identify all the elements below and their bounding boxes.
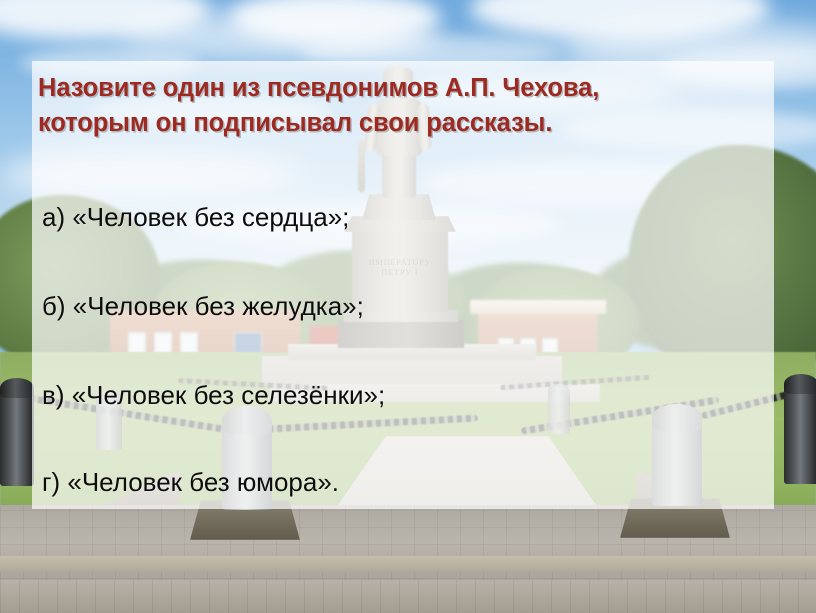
plaza-band	[0, 556, 816, 572]
bollard-far-right	[784, 384, 816, 484]
bollard-cap	[784, 374, 816, 394]
quiz-slide: ИМПЕРАТОРУ ПЕТРУ I	[0, 0, 816, 613]
answer-option-d[interactable]: г) «Человек без юмора».	[42, 466, 339, 498]
bollard-cap	[0, 378, 34, 398]
answer-option-a[interactable]: а) «Человек без сердца»;	[42, 201, 349, 233]
bollard-far-left	[0, 388, 34, 486]
answer-option-c[interactable]: в) «Человек без селезёнки»;	[42, 379, 385, 411]
text-layer: Назовите один из псевдонимов А.П. Чехова…	[32, 61, 774, 509]
plaza-band-lower	[0, 580, 816, 613]
question-title: Назовите один из псевдонимов А.П. Чехова…	[38, 71, 768, 141]
answer-option-b[interactable]: б) «Человек без желудка»;	[42, 290, 364, 322]
question-title-line1: Назовите один из псевдонимов А.П. Чехова…	[38, 74, 599, 102]
question-title-line2: которым он подписывал свои рассказы.	[38, 106, 768, 141]
